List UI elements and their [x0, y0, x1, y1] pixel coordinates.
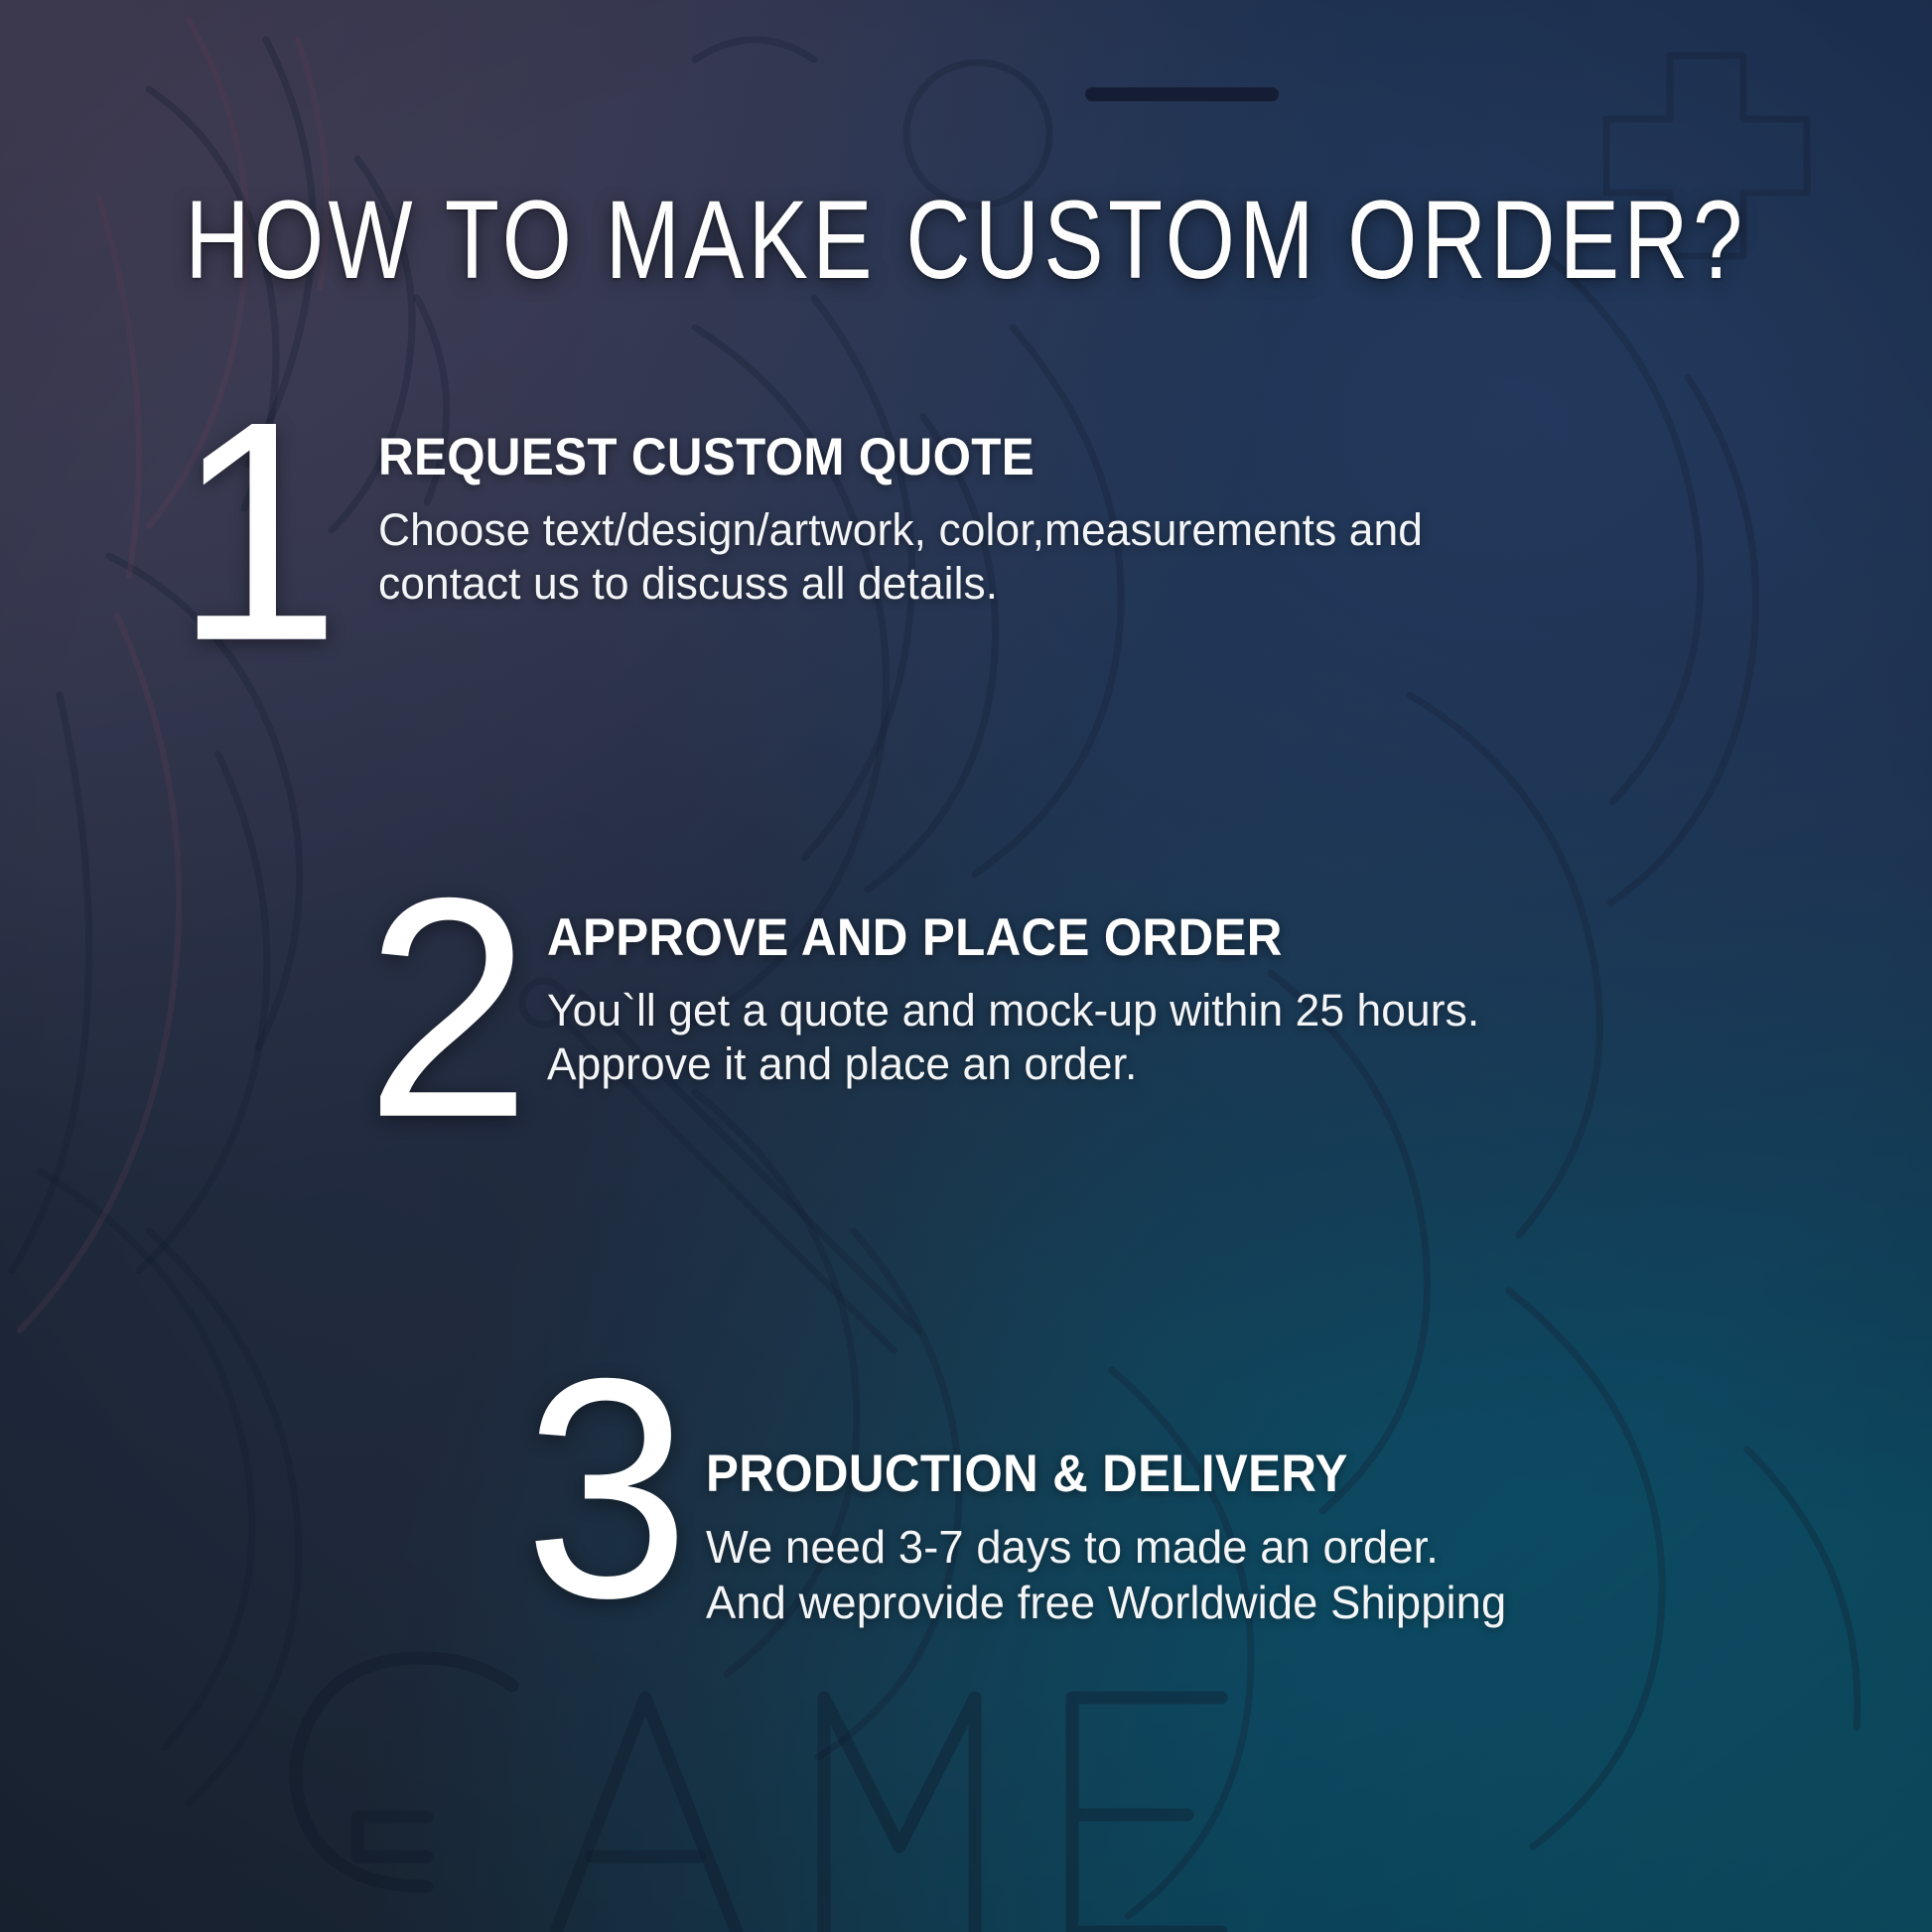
step-item-3: 3 PRODUCTION & DELIVERY We need 3-7 days… — [524, 1372, 1855, 1630]
step-body-1: REQUEST CUSTOM QUOTE Choose text/design/… — [378, 415, 1783, 612]
step-item-1: 1 REQUEST CUSTOM QUOTE Choose text/desig… — [175, 415, 1783, 635]
step-body-2: APPROVE AND PLACE ORDER You`ll get a quo… — [547, 892, 1835, 1092]
step-item-2: 2 APPROVE AND PLACE ORDER You`ll get a q… — [365, 892, 1835, 1112]
step-number-3: 3 — [524, 1372, 684, 1603]
poster-canvas: HOW TO MAKE CUSTOM ORDER? 1 REQUEST CUST… — [0, 0, 1932, 1932]
step-body-3: PRODUCTION & DELIVERY We need 3-7 days t… — [706, 1372, 1855, 1630]
step-description-2-line-2: Approve it and place an order. — [547, 1037, 1816, 1091]
step-number-2: 2 — [365, 892, 525, 1123]
page-title: HOW TO MAKE CUSTOM ORDER? — [19, 185, 1912, 296]
step-description-3-line-1: We need 3-7 days to made an order. — [706, 1520, 1838, 1576]
step-heading-2: APPROVE AND PLACE ORDER — [547, 911, 1744, 964]
step-description-1: Choose text/design/artwork, color,measur… — [378, 503, 1762, 612]
step-description-3: We need 3-7 days to made an order. And w… — [706, 1520, 1838, 1630]
step-description-1-line-1: Choose text/design/artwork, color,measur… — [378, 503, 1762, 557]
step-description-2: You`ll get a quote and mock-up within 25… — [547, 984, 1816, 1092]
poster-content: HOW TO MAKE CUSTOM ORDER? 1 REQUEST CUST… — [0, 0, 1932, 1932]
step-description-3-line-2: And weprovide free Worldwide Shipping — [706, 1576, 1838, 1631]
step-number-1: 1 — [175, 415, 335, 646]
step-description-2-line-1: You`ll get a quote and mock-up within 25… — [547, 984, 1816, 1037]
step-heading-3: PRODUCTION & DELIVERY — [706, 1448, 1774, 1500]
step-heading-1: REQUEST CUSTOM QUOTE — [378, 431, 1685, 483]
step-description-1-line-2: contact us to discuss all details. — [378, 557, 1762, 611]
